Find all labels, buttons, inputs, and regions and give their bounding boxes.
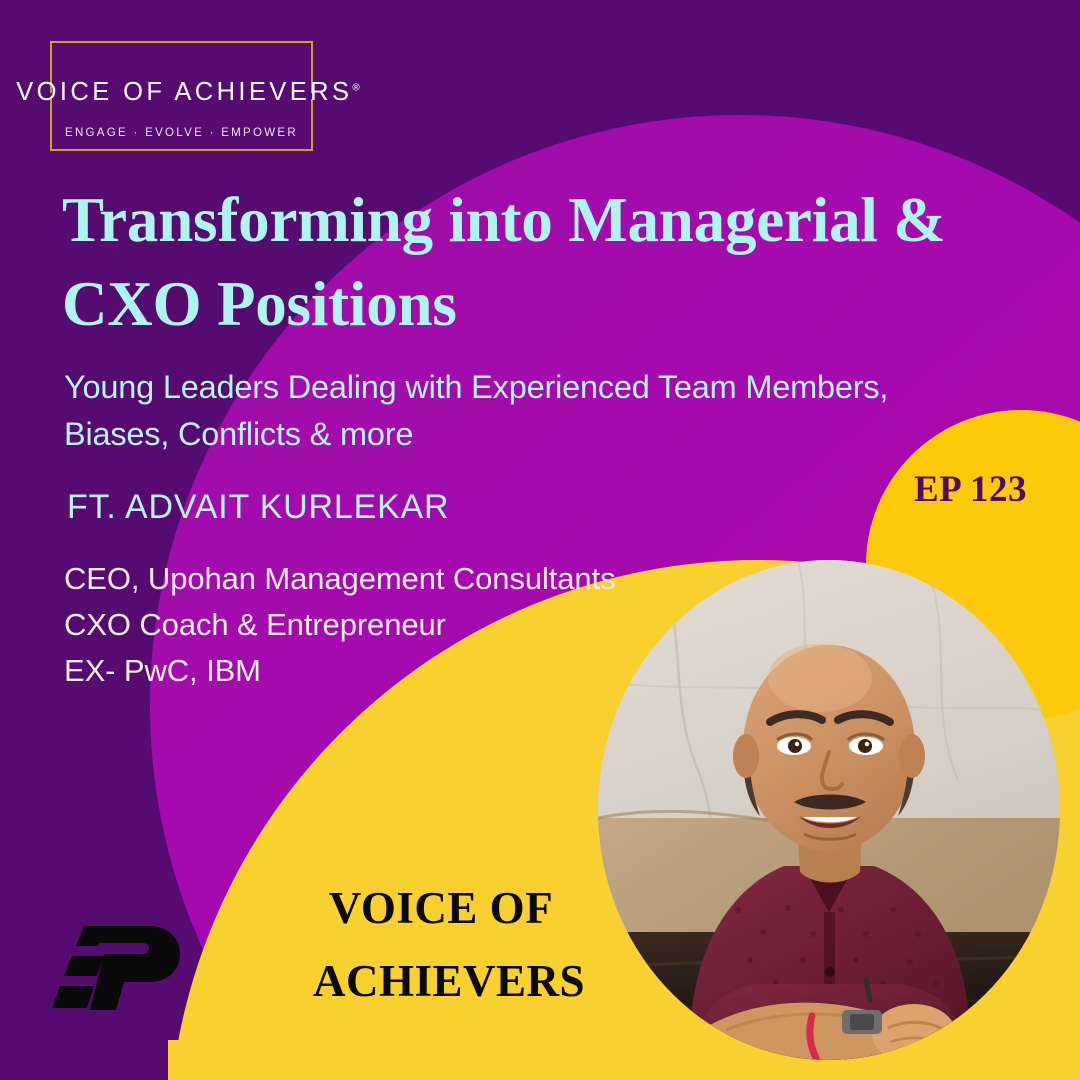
episode-title: Transforming into Managerial & CXO Posit… — [62, 178, 1017, 347]
registered-trademark-icon: ® — [352, 83, 359, 94]
podcast-episode-poster: EP 123 VOICE OF ACHIEVERS® ENGAGE · EVOL… — [0, 0, 1080, 1080]
brand-logo: VOICE OF ACHIEVERS® ENGAGE · EVOLVE · EM… — [50, 41, 313, 151]
bottom-brand-line-2: ACHIEVERS — [266, 945, 616, 1018]
guest-featured-name: FT. ADVAIT KURLEKAR — [67, 488, 449, 527]
episode-subtitle: Young Leaders Dealing with Experienced T… — [64, 364, 964, 458]
bottom-brand-wordmark: VOICE OF ACHIEVERS — [266, 872, 616, 1018]
bottom-brand-line-1: VOICE OF — [266, 872, 616, 945]
guest-photo — [598, 560, 1060, 1060]
yellow-bottom-fill — [168, 1040, 1080, 1080]
ep-monogram-glyph — [46, 922, 186, 1014]
ep-monogram-icon — [46, 922, 186, 1014]
episode-number-label: EP 123 — [914, 468, 1027, 511]
brand-logo-name-text: VOICE OF ACHIEVERS — [16, 78, 352, 106]
brand-tagline: ENGAGE · EVOLVE · EMPOWER — [50, 127, 313, 139]
guest-portrait-illustration — [598, 560, 1060, 1060]
brand-logo-name: VOICE OF ACHIEVERS® — [13, 78, 363, 107]
